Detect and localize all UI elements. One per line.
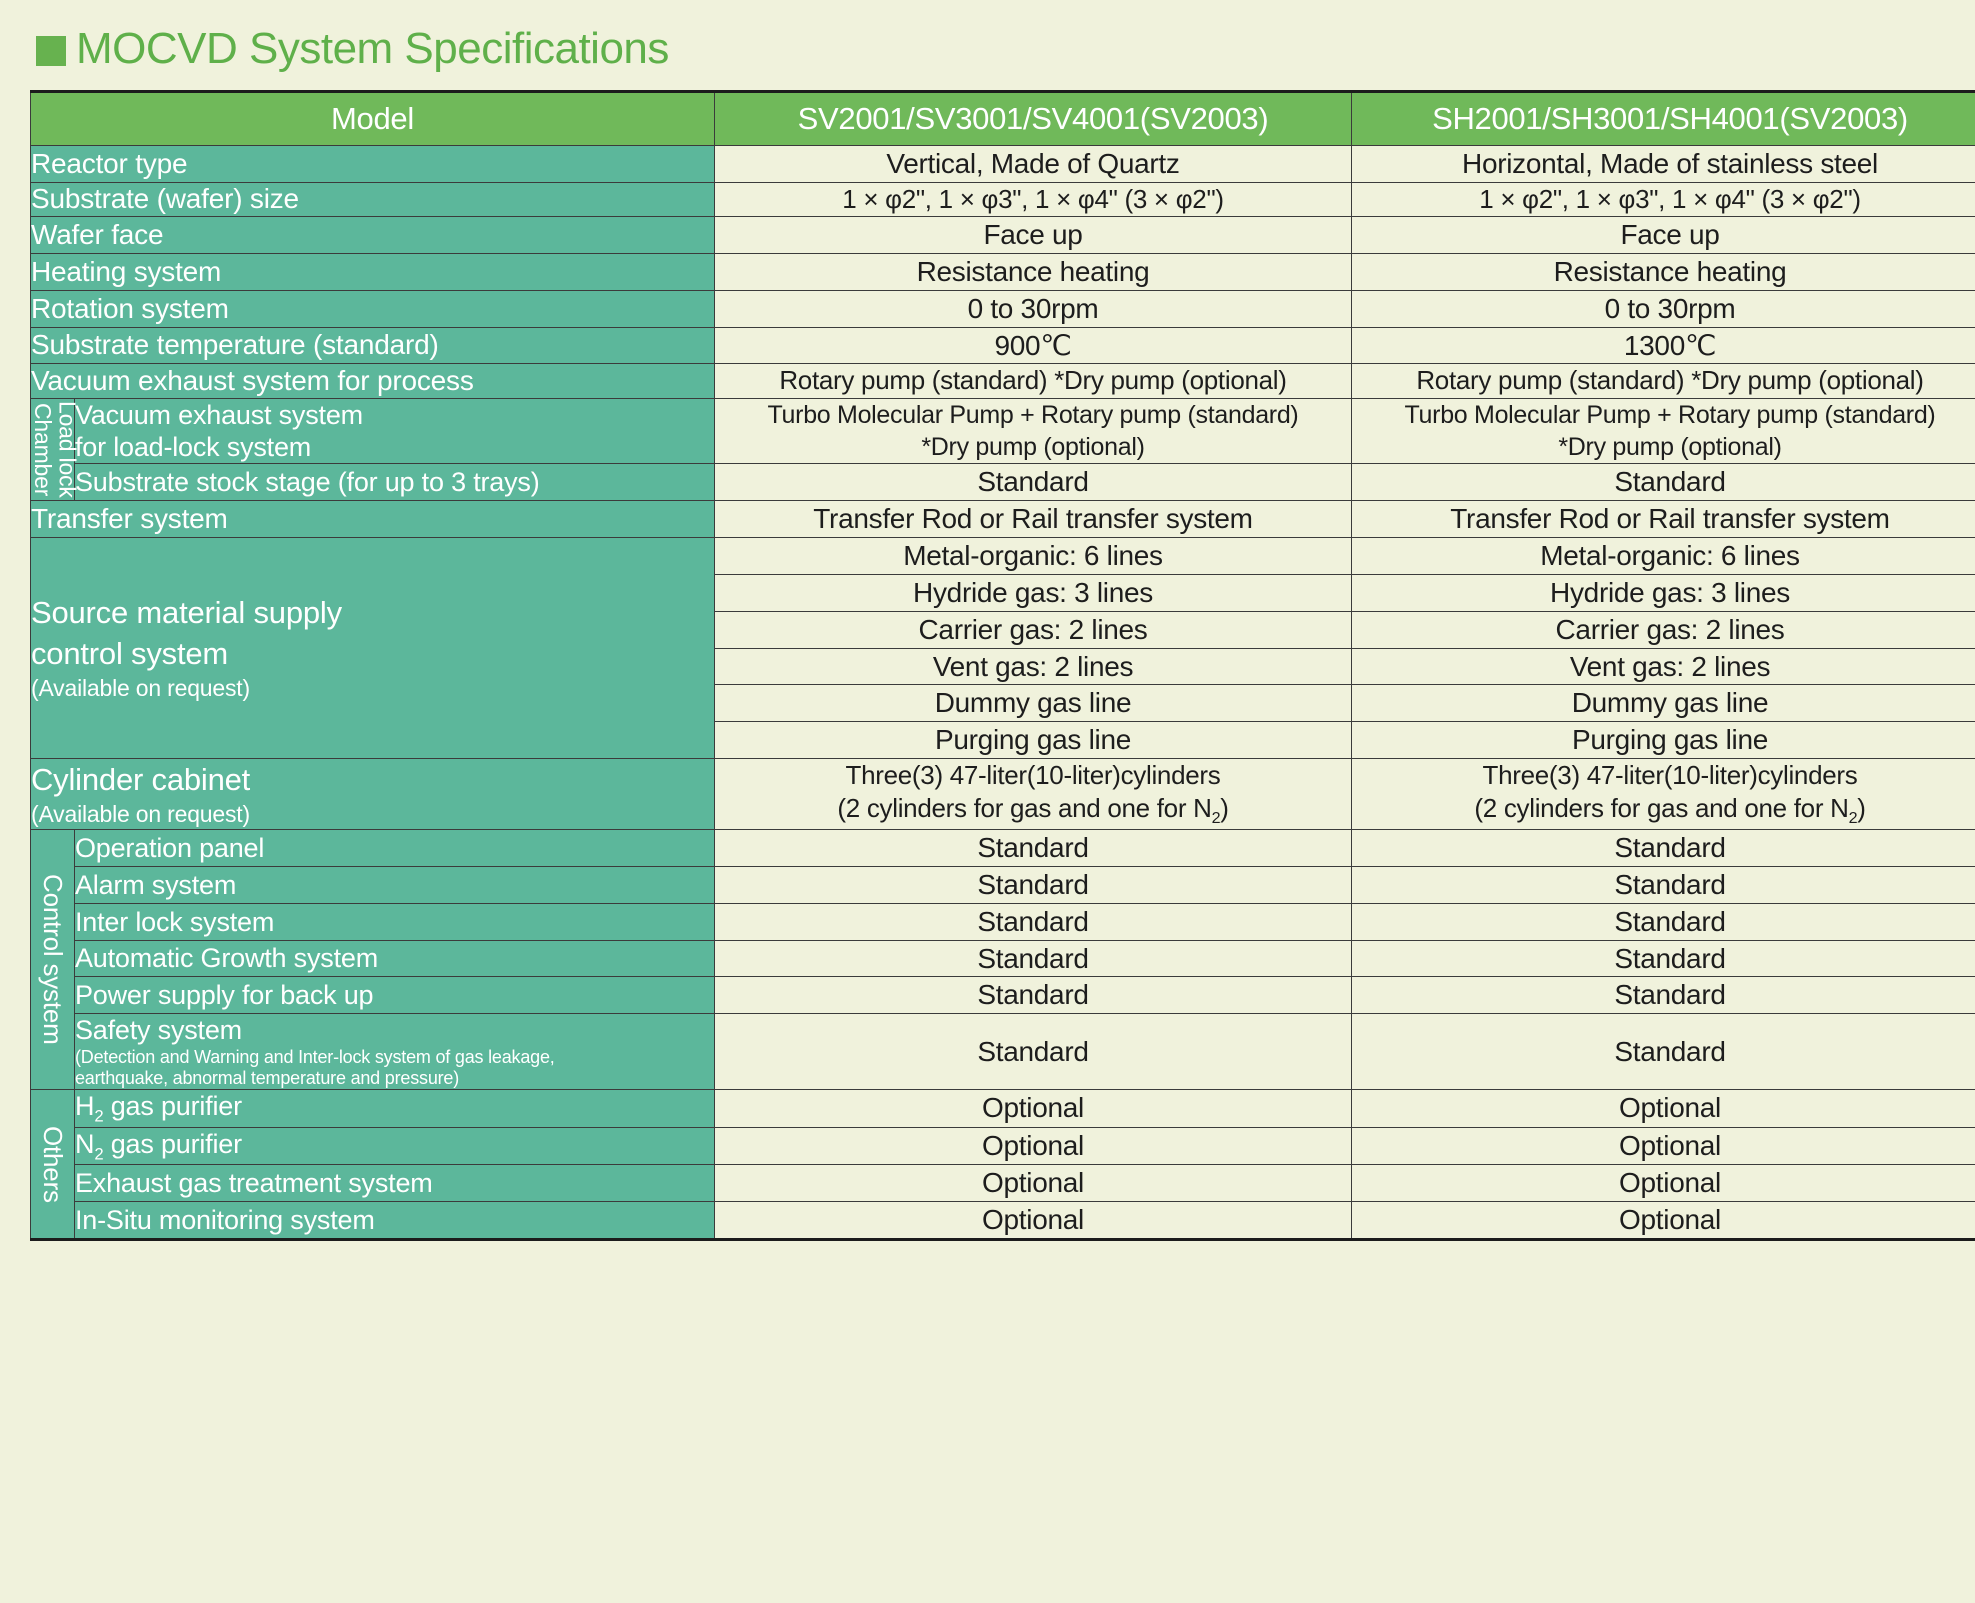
cell-sh-transfer-system: Transfer Rod or Rail transfer system [1352, 501, 1975, 538]
cell-sv-substrate-temperature: 900℃ [715, 327, 1352, 364]
h2-label-pre: H [75, 1091, 94, 1121]
cell-sh-source-line-2: Carrier gas: 2 lines [1352, 611, 1975, 648]
row-label-h2-gas-purifier: H2 gas purifier [75, 1090, 715, 1127]
cell-sv-automatic-growth-system: Standard [715, 940, 1352, 977]
row-label-substrate-stock-stage: Substrate stock stage (for up to 3 trays… [75, 464, 715, 501]
table-row: Alarm system Standard Standard [31, 866, 1975, 903]
cell-sh-cylinder-line2-pre: (2 cylinders for gas and one for N [1474, 793, 1848, 823]
cell-sh-vacuum-exhaust-loadlock: Turbo Molecular Pump + Rotary pump (stan… [1352, 398, 1975, 464]
row-label-operation-panel: Operation panel [75, 830, 715, 867]
table-row: Others H2 gas purifier Optional Optional [31, 1090, 1975, 1127]
cell-sh-cylinder-line2-post: ) [1857, 793, 1865, 823]
table-row: Source material supply control system (A… [31, 538, 1975, 575]
table-row: In-Situ monitoring system Optional Optio… [31, 1201, 1975, 1239]
cell-sh-source-line-1: Hydride gas: 3 lines [1352, 574, 1975, 611]
row-label-in-situ-monitoring: In-Situ monitoring system [75, 1201, 715, 1239]
cell-sv-cylinder-line2-pre: (2 cylinders for gas and one for N [837, 793, 1211, 823]
mocvd-specifications-table: Model SV2001/SV3001/SV4001(SV2003) SH200… [30, 90, 1975, 1241]
cell-sh-h2-gas-purifier: Optional [1352, 1090, 1975, 1127]
table-row: Reactor type Vertical, Made of Quartz Ho… [31, 146, 1975, 183]
cell-sv-wafer-face: Face up [715, 217, 1352, 254]
table-row: Substrate stock stage (for up to 3 trays… [31, 464, 1975, 501]
table-row: Control system Operation panel Standard … [31, 830, 1975, 867]
safety-system-label: Safety system [75, 1015, 242, 1045]
cell-sv-inter-lock-system: Standard [715, 903, 1352, 940]
cell-sh-wafer-face: Face up [1352, 217, 1975, 254]
cell-sh-heating-system: Resistance heating [1352, 253, 1975, 290]
cell-sh-cylinder-line1: Three(3) 47-liter(10-liter)cylinders [1483, 760, 1858, 790]
table-row: Substrate temperature (standard) 900℃ 13… [31, 327, 1975, 364]
cell-sh-vacuum-exhaust-process: Rotary pump (standard) *Dry pump (option… [1352, 364, 1975, 398]
row-label-wafer-face: Wafer face [31, 217, 715, 254]
cell-sv-safety-system: Standard [715, 1014, 1352, 1090]
cylinder-cabinet-label: Cylinder cabinet [31, 762, 250, 797]
row-label-alarm-system: Alarm system [75, 866, 715, 903]
row-label-source-material-supply: Source material supply control system (A… [31, 538, 715, 759]
h2-label-post: gas purifier [103, 1091, 241, 1121]
row-label-cylinder-cabinet: Cylinder cabinet (Available on request) [31, 759, 715, 830]
table-row: Cylinder cabinet (Available on request) … [31, 759, 1975, 830]
row-label-substrate-size: Substrate (wafer) size [31, 182, 715, 216]
page-title: MOCVD System Specifications [30, 18, 1949, 80]
cell-sv-source-line-2: Carrier gas: 2 lines [715, 611, 1352, 648]
cell-sh-automatic-growth-system: Standard [1352, 940, 1975, 977]
group-label-load-lock-chamber-text: Load lock Chamber [31, 401, 79, 498]
row-label-power-supply-backup: Power supply for back up [75, 977, 715, 1014]
green-square-bullet-icon [36, 36, 66, 66]
table-header-row: Model SV2001/SV3001/SV4001(SV2003) SH200… [31, 92, 1975, 146]
cell-sh-power-supply-backup: Standard [1352, 977, 1975, 1014]
table-row: Load lock Chamber Vacuum exhaust system … [31, 398, 1975, 464]
row-label-automatic-growth-system: Automatic Growth system [75, 940, 715, 977]
row-label-rotation-system: Rotation system [31, 290, 715, 327]
cell-sh-source-line-3: Vent gas: 2 lines [1352, 648, 1975, 685]
cell-sv-cylinder-cabinet: Three(3) 47-liter(10-liter)cylinders (2 … [715, 759, 1352, 830]
cell-sv-cylinder-line2-sub: 2 [1212, 810, 1221, 828]
row-label-safety-system: Safety system (Detection and Warning and… [75, 1014, 715, 1090]
group-label-others-text: Others [39, 1126, 66, 1203]
group-label-control-system-text: Control system [39, 874, 66, 1045]
cell-sv-alarm-system: Standard [715, 866, 1352, 903]
cell-sh-cylinder-line2-sub: 2 [1849, 810, 1858, 828]
cell-sv-transfer-system: Transfer Rod or Rail transfer system [715, 501, 1352, 538]
group-label-control-system: Control system [31, 830, 75, 1090]
source-supply-line2: control system [31, 636, 228, 671]
header-col-sh: SH2001/SH3001/SH4001(SV2003) [1352, 92, 1975, 146]
header-model-label: Model [31, 92, 715, 146]
table-row: Power supply for back up Standard Standa… [31, 977, 1975, 1014]
row-label-substrate-temperature: Substrate temperature (standard) [31, 327, 715, 364]
table-row: Safety system (Detection and Warning and… [31, 1014, 1975, 1090]
row-label-vacuum-exhaust-loadlock-line1: Vacuum exhaust system [75, 400, 363, 430]
cell-sv-heating-system: Resistance heating [715, 253, 1352, 290]
source-supply-line1: Source material supply [31, 595, 342, 630]
cell-sv-vacuum-exhaust-loadlock: Turbo Molecular Pump + Rotary pump (stan… [715, 398, 1352, 464]
cell-sv-rotation-system: 0 to 30rpm [715, 290, 1352, 327]
n2-label-pre: N [75, 1129, 94, 1159]
n2-label-post: gas purifier [103, 1129, 241, 1159]
group-label-load-lock-chamber: Load lock Chamber [31, 398, 75, 501]
safety-system-note-line1: (Detection and Warning and Inter-lock sy… [75, 1047, 714, 1068]
table-row: Rotation system 0 to 30rpm 0 to 30rpm [31, 290, 1975, 327]
row-label-exhaust-gas-treatment: Exhaust gas treatment system [75, 1165, 715, 1202]
table-row: Transfer system Transfer Rod or Rail tra… [31, 501, 1975, 538]
cell-sv-operation-panel: Standard [715, 830, 1352, 867]
cell-sh-in-situ-monitoring: Optional [1352, 1201, 1975, 1239]
cell-sh-substrate-size: 1 × φ2", 1 × φ3", 1 × φ4" (3 × φ2") [1352, 182, 1975, 216]
table-row: Vacuum exhaust system for process Rotary… [31, 364, 1975, 398]
cell-sh-cylinder-cabinet: Three(3) 47-liter(10-liter)cylinders (2 … [1352, 759, 1975, 830]
cell-sv-cylinder-line2-post: ) [1220, 793, 1228, 823]
table-row: Exhaust gas treatment system Optional Op… [31, 1165, 1975, 1202]
cell-sv-vacuum-exhaust-process: Rotary pump (standard) *Dry pump (option… [715, 364, 1352, 398]
table-row: Inter lock system Standard Standard [31, 903, 1975, 940]
row-label-heating-system: Heating system [31, 253, 715, 290]
table-row: N2 gas purifier Optional Optional [31, 1127, 1975, 1164]
cell-sv-source-line-4: Dummy gas line [715, 685, 1352, 722]
cell-sh-safety-system: Standard [1352, 1014, 1975, 1090]
table-row: Automatic Growth system Standard Standar… [31, 940, 1975, 977]
cell-sh-n2-gas-purifier: Optional [1352, 1127, 1975, 1164]
cell-sv-source-line-3: Vent gas: 2 lines [715, 648, 1352, 685]
page-title-text: MOCVD System Specifications [76, 27, 669, 71]
cell-sv-n2-gas-purifier: Optional [715, 1127, 1352, 1164]
header-col-sv: SV2001/SV3001/SV4001(SV2003) [715, 92, 1352, 146]
cell-sh-reactor-type: Horizontal, Made of stainless steel [1352, 146, 1975, 183]
cell-sv-source-line-1: Hydride gas: 3 lines [715, 574, 1352, 611]
cell-sh-exhaust-gas-treatment: Optional [1352, 1165, 1975, 1202]
cell-sh-operation-panel: Standard [1352, 830, 1975, 867]
cell-sv-source-line-0: Metal-organic: 6 lines [715, 538, 1352, 575]
row-label-n2-gas-purifier: N2 gas purifier [75, 1127, 715, 1164]
cell-sv-exhaust-gas-treatment: Optional [715, 1165, 1352, 1202]
row-label-vacuum-exhaust-loadlock: Vacuum exhaust system for load-lock syst… [75, 398, 715, 464]
cell-sv-power-supply-backup: Standard [715, 977, 1352, 1014]
safety-system-note-line2: earthquake, abnormal temperature and pre… [75, 1068, 714, 1089]
cell-sh-substrate-stock-stage: Standard [1352, 464, 1975, 501]
cell-sh-source-line-0: Metal-organic: 6 lines [1352, 538, 1975, 575]
table-row: Wafer face Face up Face up [31, 217, 1975, 254]
cell-sv-source-line-5: Purging gas line [715, 722, 1352, 759]
cell-sh-vacuum-exhaust-loadlock-line2: *Dry pump (optional) [1558, 433, 1781, 461]
cell-sv-vacuum-exhaust-loadlock-line1: Turbo Molecular Pump + Rotary pump (stan… [768, 401, 1299, 429]
cell-sh-substrate-temperature: 1300℃ [1352, 327, 1975, 364]
cell-sh-source-line-5: Purging gas line [1352, 722, 1975, 759]
cell-sh-source-line-4: Dummy gas line [1352, 685, 1975, 722]
cylinder-cabinet-note: (Available on request) [31, 800, 714, 829]
cell-sh-inter-lock-system: Standard [1352, 903, 1975, 940]
cell-sh-alarm-system: Standard [1352, 866, 1975, 903]
source-supply-note: (Available on request) [31, 674, 714, 703]
row-label-transfer-system: Transfer system [31, 501, 715, 538]
cell-sv-cylinder-line1: Three(3) 47-liter(10-liter)cylinders [846, 760, 1221, 790]
row-label-inter-lock-system: Inter lock system [75, 903, 715, 940]
cell-sv-vacuum-exhaust-loadlock-line2: *Dry pump (optional) [921, 433, 1144, 461]
cell-sh-vacuum-exhaust-loadlock-line1: Turbo Molecular Pump + Rotary pump (stan… [1405, 401, 1936, 429]
cell-sv-substrate-stock-stage: Standard [715, 464, 1352, 501]
cell-sv-in-situ-monitoring: Optional [715, 1201, 1352, 1239]
specifications-page: MOCVD System Specifications Model SV2001… [0, 0, 1975, 1603]
cell-sh-rotation-system: 0 to 30rpm [1352, 290, 1975, 327]
group-label-others: Others [31, 1090, 75, 1240]
cell-sv-reactor-type: Vertical, Made of Quartz [715, 146, 1352, 183]
row-label-reactor-type: Reactor type [31, 146, 715, 183]
table-row: Substrate (wafer) size 1 × φ2", 1 × φ3",… [31, 182, 1975, 216]
row-label-vacuum-exhaust-process: Vacuum exhaust system for process [31, 364, 715, 398]
cell-sv-h2-gas-purifier: Optional [715, 1090, 1352, 1127]
table-row: Heating system Resistance heating Resist… [31, 253, 1975, 290]
cell-sv-substrate-size: 1 × φ2", 1 × φ3", 1 × φ4" (3 × φ2") [715, 182, 1352, 216]
row-label-vacuum-exhaust-loadlock-line2: for load-lock system [75, 432, 311, 462]
